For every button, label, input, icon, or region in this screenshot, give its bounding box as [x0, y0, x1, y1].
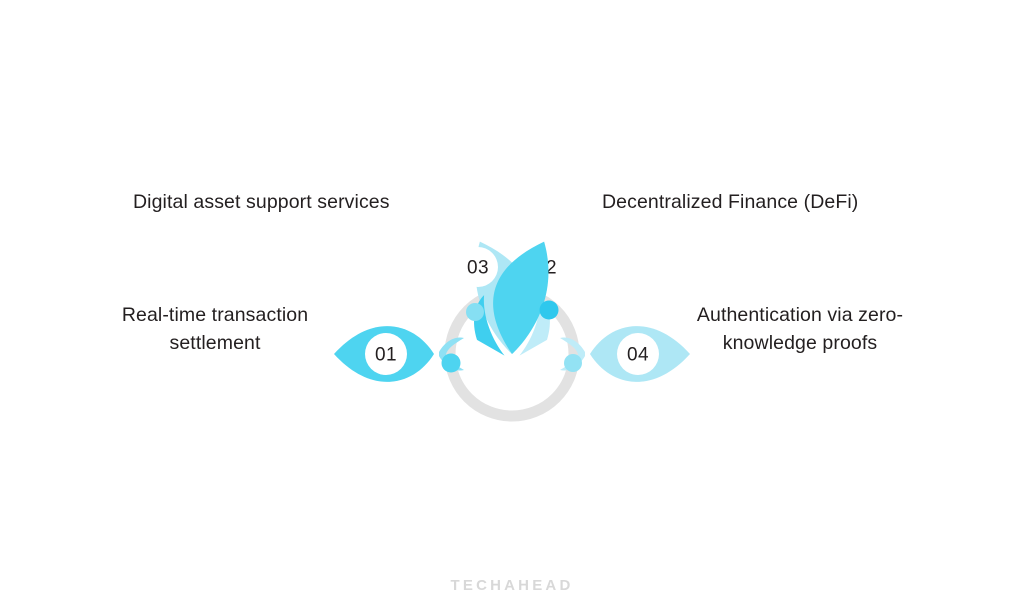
- feature-label-04-line-1: Authentication via zero-: [672, 301, 928, 329]
- feature-label-02-line-1: Digital asset support services: [133, 188, 390, 216]
- feature-label-04: Authentication via zero- knowledge proof…: [672, 301, 928, 357]
- feature-label-01-line-1: Real-time transaction: [72, 301, 358, 329]
- ring-dot-02: [466, 303, 484, 321]
- feature-label-03: Decentralized Finance (DeFi): [602, 188, 858, 216]
- petal-03-number: 03: [467, 258, 489, 279]
- feature-label-02: Digital asset support services: [133, 188, 390, 216]
- petal-04-number: 04: [627, 345, 649, 366]
- petal-diagram: 02 03 01: [322, 186, 702, 436]
- ring-dot-03: [540, 301, 559, 320]
- brand-wordmark: TECHAHEAD: [0, 577, 1024, 594]
- ring-dot-04: [564, 354, 582, 372]
- feature-label-01: Real-time transaction settlement: [72, 301, 358, 357]
- feature-label-01-line-2: settlement: [72, 329, 358, 357]
- petal-01-number: 01: [375, 345, 397, 366]
- petal-04[interactable]: 04: [560, 326, 690, 382]
- feature-label-04-line-2: knowledge proofs: [672, 329, 928, 357]
- infographic-stage: 02 03 01: [0, 0, 1024, 609]
- ring-dot-01: [442, 354, 461, 373]
- feature-label-03-line-1: Decentralized Finance (DeFi): [602, 188, 858, 216]
